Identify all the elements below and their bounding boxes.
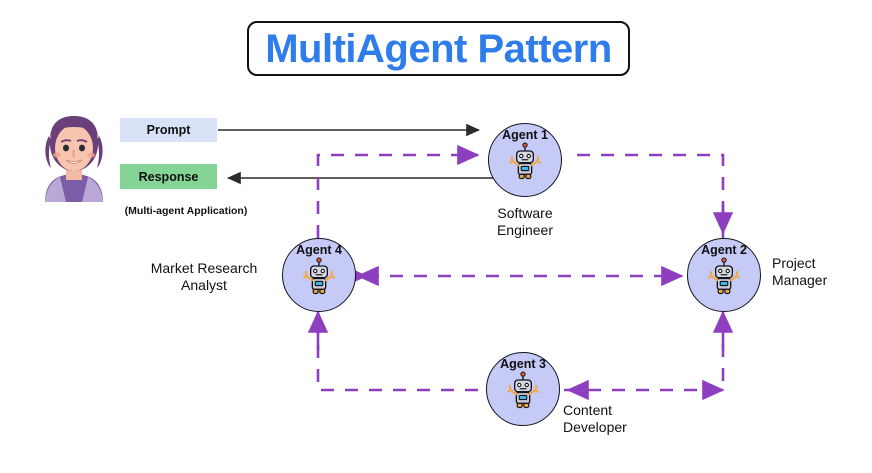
robot-icon (503, 370, 543, 410)
application-caption: (Multi-agent Application) (106, 205, 266, 217)
connector-layer (0, 0, 872, 473)
agent-node-4[interactable]: Agent 4 (282, 238, 356, 312)
robot-icon (704, 256, 744, 296)
robot-icon (299, 256, 339, 296)
agent-node-3[interactable]: Agent 3 (486, 352, 560, 426)
agent-node-1[interactable]: Agent 1 (488, 123, 562, 197)
user-avatar-icon (33, 110, 115, 202)
agent-2-role-label: Project Manager (772, 255, 864, 288)
diagram-canvas: MultiAgent Pattern (0, 0, 872, 473)
response-label: Response (139, 170, 199, 184)
agent-1-role-label: Software Engineer (465, 205, 585, 238)
edge-agent3-to-agent2 (564, 312, 723, 390)
agent-node-2[interactable]: Agent 2 (687, 238, 761, 312)
agent-3-role-label: Content Developer (563, 402, 667, 435)
edge-agent4-to-agent1 (318, 155, 478, 238)
response-box[interactable]: Response (120, 164, 217, 189)
prompt-label: Prompt (147, 123, 191, 137)
edge-agent1-to-agent2 (566, 155, 723, 238)
prompt-box[interactable]: Prompt (120, 118, 217, 142)
agent-4-role-label: Market Research Analyst (136, 260, 272, 293)
robot-icon (505, 141, 545, 181)
